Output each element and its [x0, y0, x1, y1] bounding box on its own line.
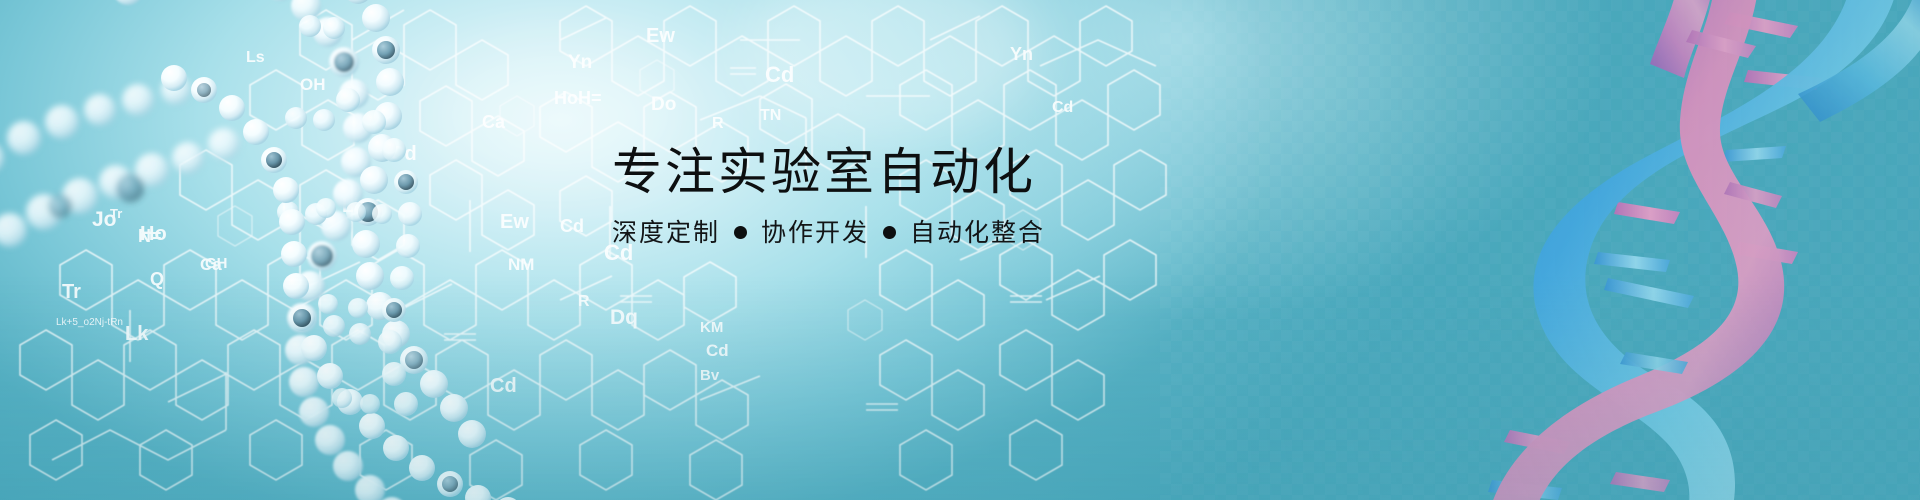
background-right-shade: [0, 0, 1920, 500]
banner-root: Cd Yn Ew HoH= Do R TN Cd Ca Lk Ew Cd Cd …: [0, 0, 1920, 500]
